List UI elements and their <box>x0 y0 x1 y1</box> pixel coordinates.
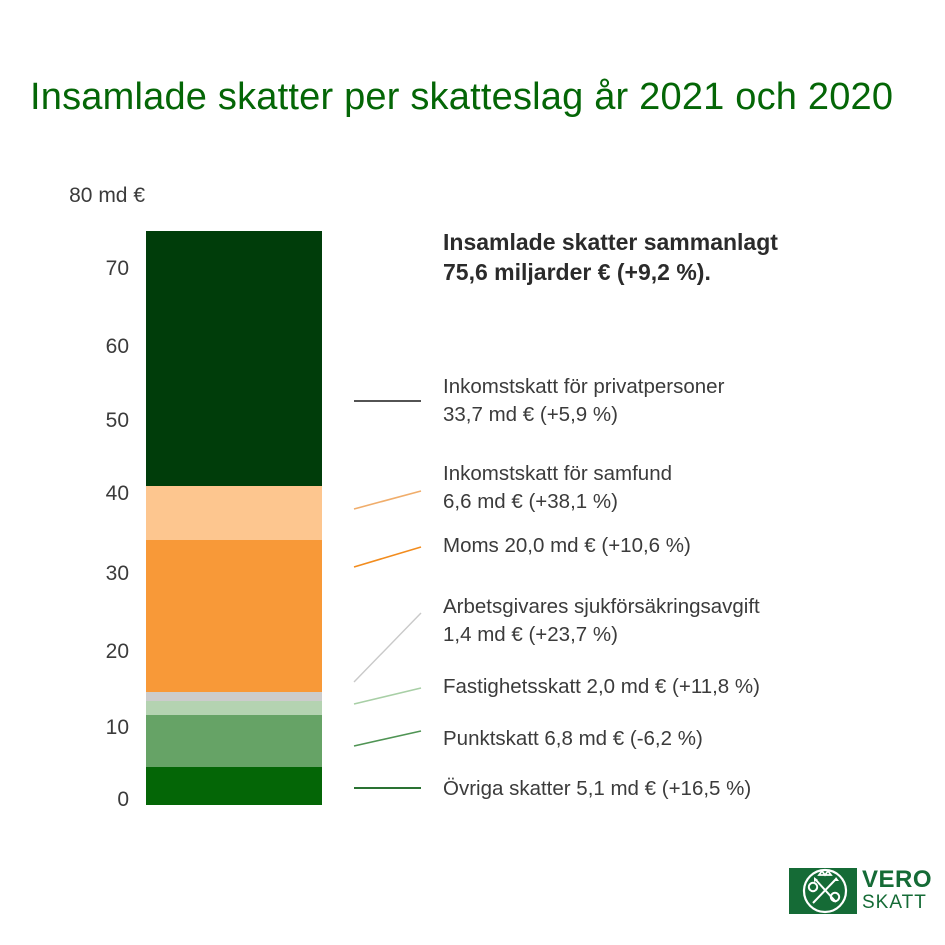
stacked-bar-column <box>146 231 322 805</box>
logo-skatt-text: SKATT <box>862 892 942 913</box>
vero-crest-icon <box>789 868 857 914</box>
legend-label-line1: Punktskatt 6,8 md € (-6,2 %) <box>443 727 703 750</box>
legend-label-line1: Moms 20,0 md € (+10,6 %) <box>443 534 691 557</box>
crest-emblem-icon <box>789 868 857 914</box>
bar-segment-sjukforsakringsavgift <box>146 692 322 701</box>
logo-wordmark: VERO SKATT <box>862 867 942 913</box>
y-tick-20: 20 <box>106 640 129 664</box>
legend-label-line2: 1,4 md € (+23,7 %) <box>443 621 760 649</box>
legend-item-sjukforsakringsavgift[interactable]: Arbetsgivares sjukförsäkringsavgift 1,4 … <box>443 593 760 649</box>
y-tick-40: 40 <box>106 482 129 506</box>
leader-line-fastighetsskatt <box>354 688 421 704</box>
legend-label-line1: Övriga skatter 5,1 md € (+16,5 %) <box>443 777 751 800</box>
vero-skatt-logo: VERO SKATT <box>789 868 934 928</box>
leader-line-sjukforsakringsavgift <box>354 613 421 682</box>
y-tick-70: 70 <box>106 257 129 281</box>
leader-line-inkomstskatt-samfund <box>354 491 421 509</box>
y-axis: 80 md € 70 60 50 40 30 20 10 0 <box>0 0 145 945</box>
y-axis-unit-tick: 80 md € <box>69 184 145 208</box>
bar-segment-inkomstskatt-samfund <box>146 486 322 540</box>
y-tick-50: 50 <box>106 409 129 433</box>
y-tick-0: 0 <box>117 788 129 812</box>
legend-label-line1: Inkomstskatt för privatpersoner <box>443 375 724 398</box>
legend-item-moms[interactable]: Moms 20,0 md € (+10,6 %) <box>443 532 691 560</box>
y-tick-30: 30 <box>106 562 129 586</box>
legend-item-inkomstskatt-samfund[interactable]: Inkomstskatt för samfund 6,6 md € (+38,1… <box>443 460 672 516</box>
leader-line-punktskatt <box>354 731 421 746</box>
chart-page: Insamlade skatter per skatteslag år 2021… <box>0 0 945 945</box>
legend: Inkomstskatt för privatpersoner 33,7 md … <box>443 0 943 945</box>
y-tick-60: 60 <box>106 335 129 359</box>
logo-vero-text: VERO <box>862 867 942 892</box>
legend-label-line1: Inkomstskatt för samfund <box>443 462 672 485</box>
legend-label-line2: 33,7 md € (+5,9 %) <box>443 401 724 429</box>
bar-segment-moms <box>146 540 322 692</box>
bar-segment-fastighetsskatt <box>146 701 322 715</box>
legend-item-fastighetsskatt[interactable]: Fastighetsskatt 2,0 md € (+11,8 %) <box>443 673 760 701</box>
leader-line-moms <box>354 547 421 567</box>
legend-item-inkomstskatt-privatpersoner[interactable]: Inkomstskatt för privatpersoner 33,7 md … <box>443 373 724 429</box>
y-tick-label-80: 80 <box>69 184 92 207</box>
legend-label-line2: 6,6 md € (+38,1 %) <box>443 488 672 516</box>
legend-item-punktskatt[interactable]: Punktskatt 6,8 md € (-6,2 %) <box>443 725 703 753</box>
bar-segment-punktskatt <box>146 715 322 767</box>
legend-label-line1: Arbetsgivares sjukförsäkringsavgift <box>443 595 760 618</box>
y-tick-10: 10 <box>106 716 129 740</box>
legend-item-ovriga-skatter[interactable]: Övriga skatter 5,1 md € (+16,5 %) <box>443 775 751 803</box>
y-axis-unit-label: md € <box>98 184 145 207</box>
bar-segment-ovriga-skatter <box>146 767 322 805</box>
legend-label-line1: Fastighetsskatt 2,0 md € (+11,8 %) <box>443 675 760 698</box>
bar-segment-inkomstskatt-privatpersoner <box>146 231 322 486</box>
